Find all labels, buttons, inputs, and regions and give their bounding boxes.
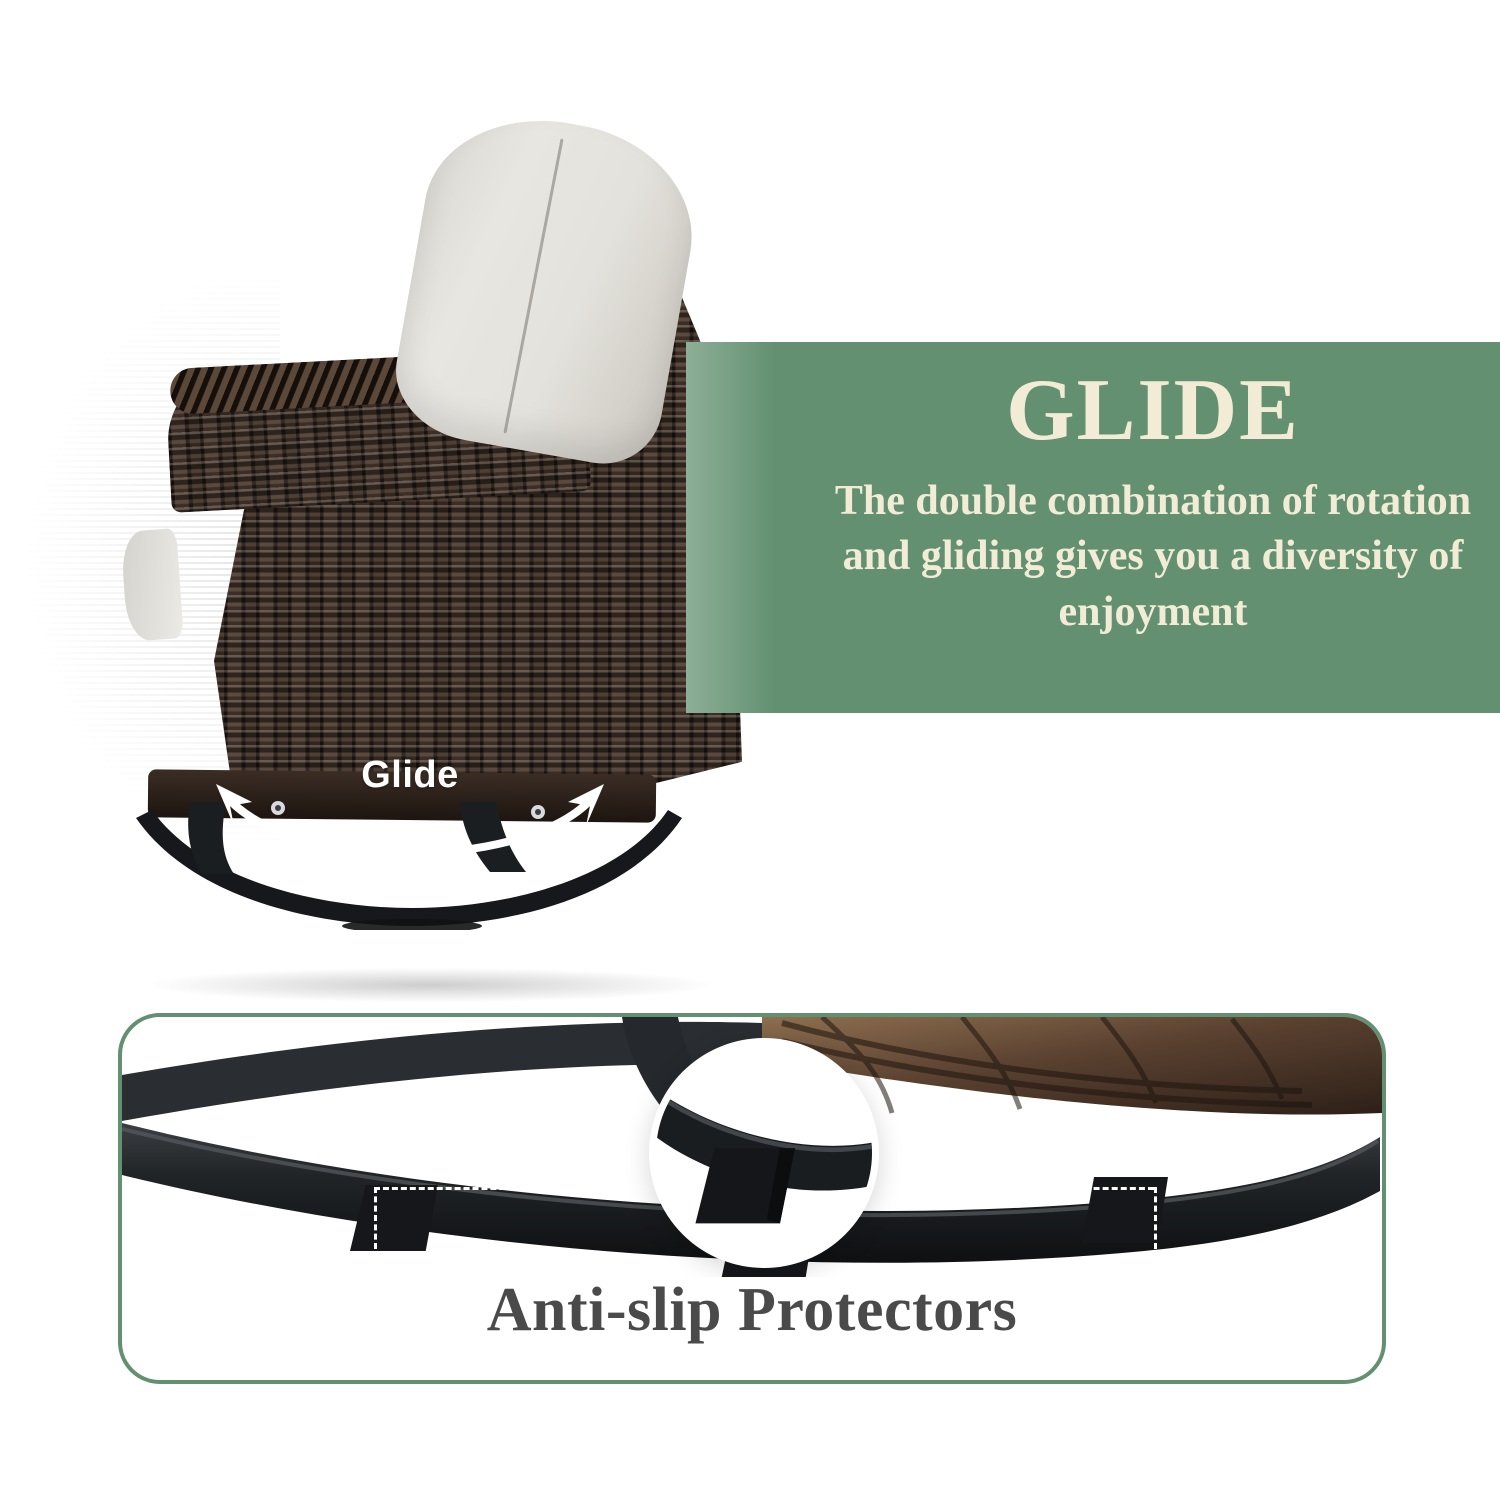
- anti-slip-detail-panel: Anti-slip Protectors: [118, 1013, 1386, 1384]
- product-feature-image: Glide GLIDE The double combination of ro…: [0, 0, 1500, 1500]
- glide-label: Glide: [180, 754, 640, 797]
- feature-title: GLIDE: [1006, 366, 1300, 456]
- callout-dash-right-vertical: [1154, 1187, 1157, 1249]
- magnifier-bubble: [649, 1038, 879, 1268]
- glide-text-panel-inner: GLIDE The double combination of rotation…: [806, 342, 1500, 713]
- glide-arrow-annotation: Glide: [180, 740, 640, 880]
- chair-floor-shadow: [150, 968, 710, 1002]
- chair-seat-cushion-edge: [120, 528, 184, 642]
- anti-slip-caption: Anti-slip Protectors: [122, 1275, 1382, 1346]
- glide-text-panel: GLIDE The double combination of rotation…: [686, 342, 1500, 713]
- glide-feature-section: Glide GLIDE The double combination of ro…: [0, 0, 1500, 960]
- anti-slip-closeup-photo: [122, 1017, 1382, 1277]
- callout-dash-right-horizontal: [912, 1187, 1154, 1190]
- magnifier-content: [656, 1045, 872, 1261]
- chair-back-cushion: [385, 101, 708, 473]
- callout-dash-left-vertical: [374, 1187, 377, 1249]
- feature-description: The double combination of rotation and g…: [833, 474, 1473, 640]
